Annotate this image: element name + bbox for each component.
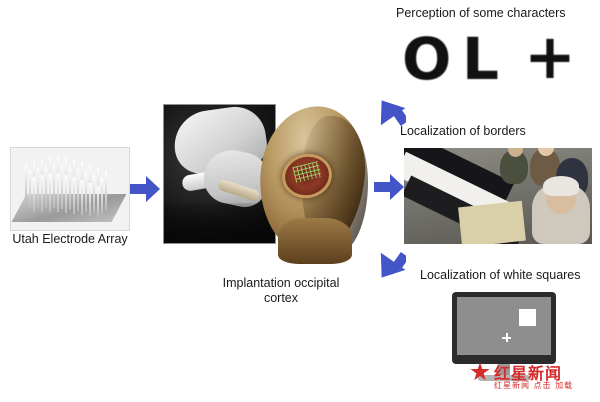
character-glyph-o: O: [402, 30, 451, 88]
border-localization-photo: [404, 148, 592, 244]
label-implantation-occipital-cortex: Implantation occipital cortex: [196, 276, 366, 306]
diagram-canvas: Utah Electrode Array Implantation occipi…: [0, 0, 600, 402]
arrow-array-to-implantation: [130, 176, 160, 202]
label-localization-of-white-squares: Localization of white squares: [420, 268, 600, 283]
arrow-to-borders: [374, 174, 404, 200]
participant-hair: [543, 176, 579, 196]
watermark-subtext: 红星新闻 点击 加载: [494, 380, 573, 391]
white-square-stimulus: [519, 309, 536, 326]
watermark: 红星新闻 红星新闻 点击 加载: [470, 360, 590, 394]
neck: [278, 218, 352, 264]
arrow-to-white-squares: [374, 248, 406, 284]
label-perception-of-characters: Perception of some characters: [396, 6, 596, 21]
character-glyph-plus: +: [524, 28, 576, 86]
red-star-icon: [470, 362, 490, 382]
head-craniotomy-render: [258, 106, 370, 258]
label-localization-of-borders: Localization of borders: [400, 124, 600, 139]
utah-electrode-array-image: [10, 147, 130, 231]
perceived-characters-panel: O L +: [400, 30, 596, 94]
array-spikes: [11, 148, 129, 230]
fixation-cross-icon: [502, 333, 511, 342]
table-surface: [458, 201, 526, 244]
character-glyph-l: L: [462, 30, 499, 88]
monitor-screen: [457, 297, 551, 355]
label-utah-electrode-array: Utah Electrode Array: [4, 232, 136, 247]
